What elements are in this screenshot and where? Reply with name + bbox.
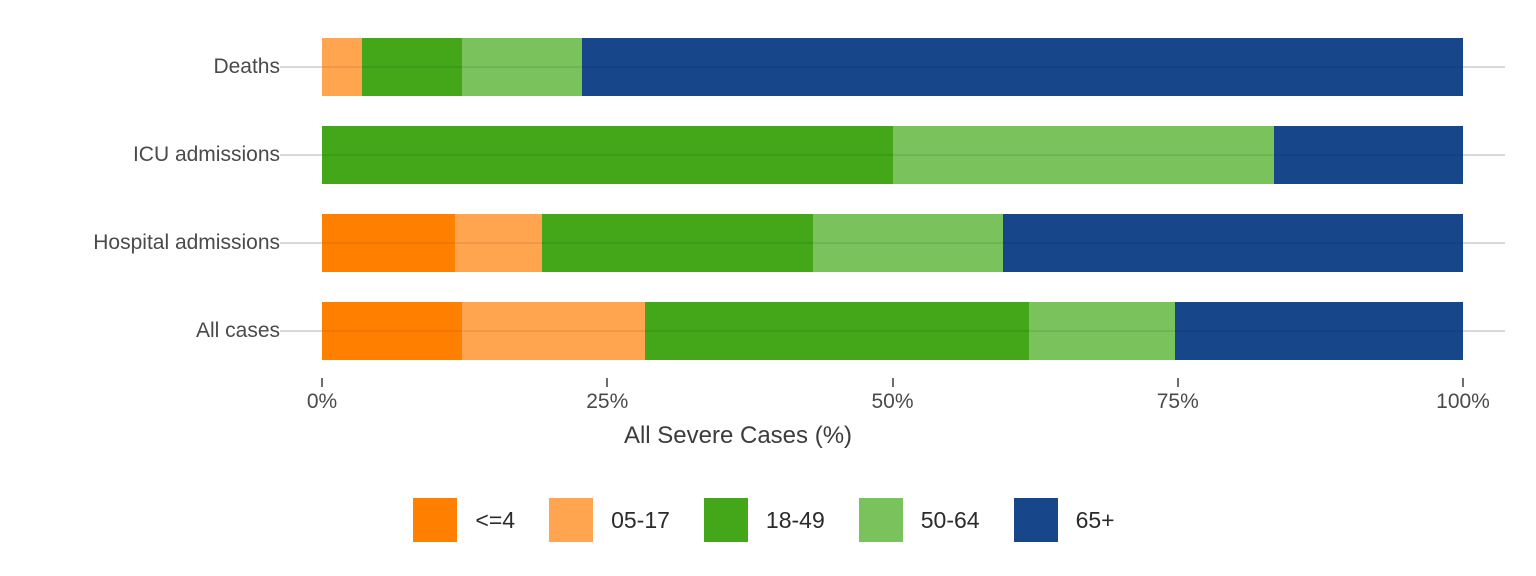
bar-row-deaths <box>322 38 1463 96</box>
stacked-bar-chart: Deaths ICU admissions Hospital admission… <box>0 0 1536 576</box>
bar-segment[interactable] <box>582 38 1463 96</box>
bar-segment[interactable] <box>1029 302 1175 360</box>
legend-item[interactable]: <=4 <box>413 498 523 542</box>
bar-segment[interactable] <box>462 302 645 360</box>
legend-label: 18-49 <box>766 507 825 534</box>
chart-legend: <=405-1718-4950-6465+ <box>0 498 1536 542</box>
bar-segment[interactable] <box>322 126 893 184</box>
bar-segment[interactable] <box>462 38 582 96</box>
y-axis: Deaths ICU admissions Hospital admission… <box>0 26 322 378</box>
bar-segment[interactable] <box>322 302 462 360</box>
x-axis-title: All Severe Cases (%) <box>0 422 1536 450</box>
legend-swatch <box>413 498 457 542</box>
y-axis-label-text: All cases <box>196 319 280 343</box>
y-axis-label-text: Hospital admissions <box>93 231 280 255</box>
y-axis-label-all-cases: All cases <box>196 302 280 360</box>
y-axis-label-deaths: Deaths <box>213 38 280 96</box>
legend-swatch <box>549 498 593 542</box>
legend-label: 65+ <box>1076 507 1115 534</box>
bar-segment[interactable] <box>1274 126 1463 184</box>
x-axis-tick-mark <box>1462 378 1464 387</box>
stacked-bar[interactable] <box>322 126 1463 184</box>
y-axis-label-hospital-admissions: Hospital admissions <box>93 214 280 272</box>
x-axis-tick-mark <box>1177 378 1179 387</box>
stacked-bar[interactable] <box>322 214 1463 272</box>
legend-swatch <box>859 498 903 542</box>
bar-row-icu-admissions <box>322 126 1463 184</box>
x-axis-tick-label: 75% <box>1157 390 1199 414</box>
legend-item[interactable]: 05-17 <box>549 498 678 542</box>
y-axis-label-text: Deaths <box>213 55 280 79</box>
x-axis-tick-label: 25% <box>586 390 628 414</box>
legend-swatch <box>704 498 748 542</box>
legend-label: 05-17 <box>611 507 670 534</box>
legend-item[interactable]: 18-49 <box>704 498 833 542</box>
x-axis-tick-label: 100% <box>1436 390 1490 414</box>
stacked-bar[interactable] <box>322 38 1463 96</box>
plot-area <box>322 26 1463 378</box>
x-axis-tick-mark <box>892 378 894 387</box>
bar-row-all-cases <box>322 302 1463 360</box>
x-axis-tick-label: 0% <box>307 390 337 414</box>
x-axis-tick-mark <box>606 378 608 387</box>
y-axis-label-icu-admissions: ICU admissions <box>133 126 280 184</box>
bar-segment[interactable] <box>322 214 455 272</box>
bar-segment[interactable] <box>645 302 1030 360</box>
y-axis-label-text: ICU admissions <box>133 143 280 167</box>
legend-item[interactable]: 50-64 <box>859 498 988 542</box>
bar-segment[interactable] <box>813 214 1004 272</box>
bar-segment[interactable] <box>893 126 1274 184</box>
bar-row-hospital-admissions <box>322 214 1463 272</box>
x-axis: 0%25%50%75%100% <box>322 378 1463 418</box>
x-axis-tick-mark <box>321 378 323 387</box>
x-axis-title-text: All Severe Cases (%) <box>624 422 852 450</box>
bar-segment[interactable] <box>542 214 812 272</box>
bar-segment[interactable] <box>1003 214 1463 272</box>
bar-segment[interactable] <box>455 214 542 272</box>
legend-item[interactable]: 65+ <box>1014 498 1123 542</box>
x-axis-tick-label: 50% <box>871 390 913 414</box>
bar-segment[interactable] <box>362 38 462 96</box>
bar-segment[interactable] <box>1175 302 1463 360</box>
stacked-bar[interactable] <box>322 302 1463 360</box>
legend-swatch <box>1014 498 1058 542</box>
legend-label: 50-64 <box>921 507 980 534</box>
bar-segment[interactable] <box>322 38 362 96</box>
legend-label: <=4 <box>475 507 515 534</box>
